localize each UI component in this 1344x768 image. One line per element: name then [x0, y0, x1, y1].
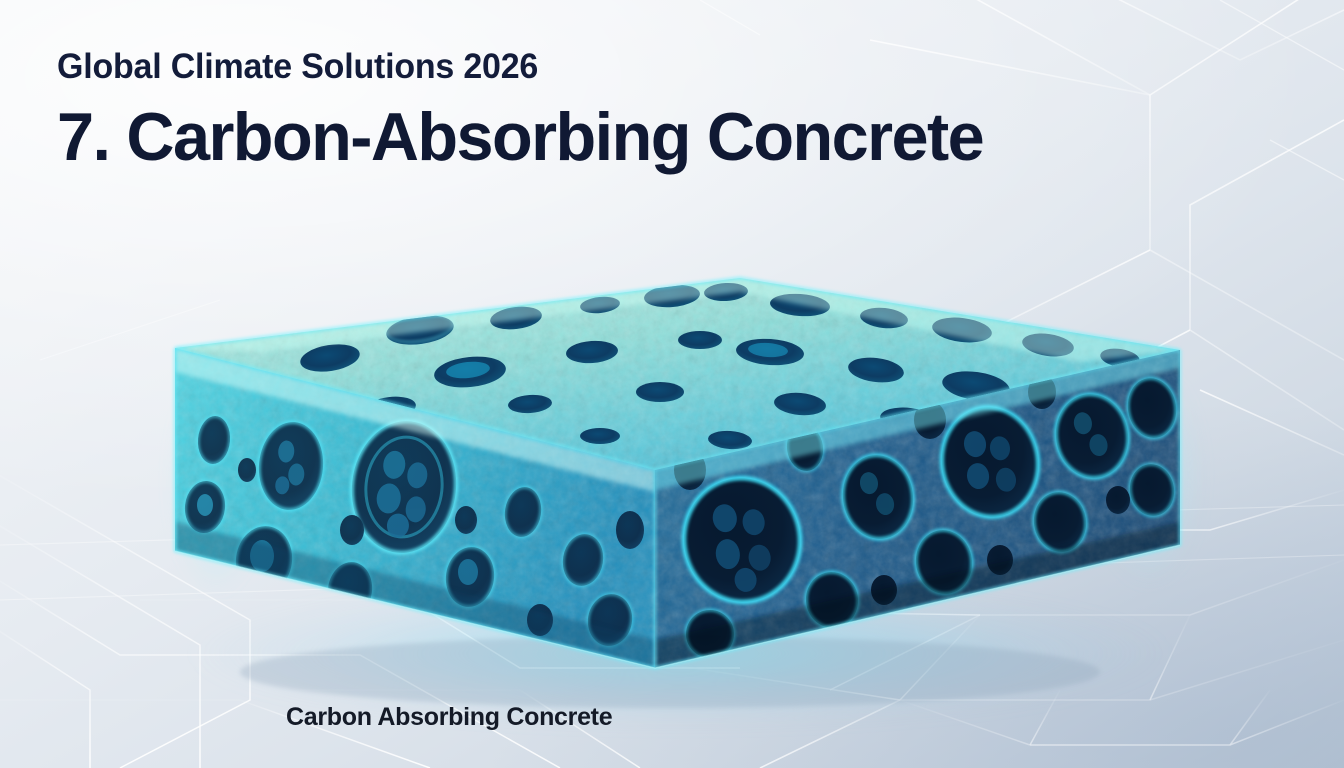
page-title: 7. Carbon-Absorbing Concrete	[57, 102, 983, 173]
presentation-slide: Global Climate Solutions 2026 7. Carbon-…	[0, 0, 1344, 768]
slab-left-edge-glow	[130, 330, 250, 630]
slide-eyebrow: Global Climate Solutions 2026	[57, 48, 974, 86]
slab-right-edge-glow	[1110, 330, 1250, 620]
image-caption: Carbon Absorbing Concrete	[286, 703, 612, 732]
slide-title-block: Global Climate Solutions 2026 7. Carbon-…	[57, 48, 1002, 173]
